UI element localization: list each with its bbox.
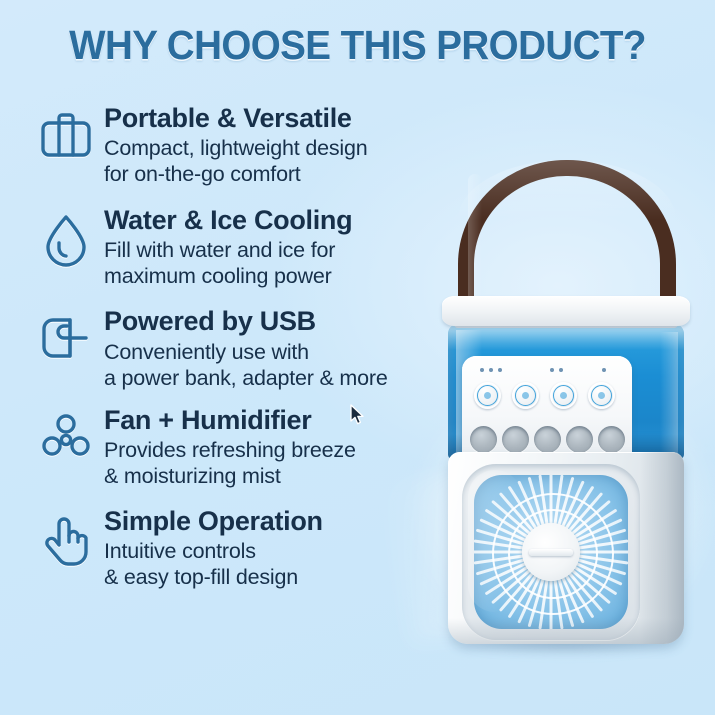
usb-plug-icon [30,306,102,362]
feature-item-portable: Portable & Versatile Compact, lightweigh… [30,103,430,188]
mist-vent [470,426,497,453]
feature-item-fan: Fan + Humidifier Provides refreshing bre… [30,405,430,490]
fan-grille [474,475,628,629]
feature-heading: Fan + Humidifier [104,405,430,435]
feature-heading: Portable & Versatile [104,103,430,133]
product-base [448,618,684,644]
fan-hub-bar [529,549,573,556]
mouse-pointer [349,404,367,428]
feature-body: Provides refreshing breeze & moisturizin… [104,437,430,489]
feature-text-usb: Powered by USB Conveniently use with a p… [102,306,430,391]
feature-text-portable: Portable & Versatile Compact, lightweigh… [102,103,430,188]
feature-item-simple-operation: Simple Operation Intuitive controls & ea… [30,506,430,591]
control-buttons [472,382,624,416]
feature-body: Fill with water and ice for maximum cool… [104,237,430,289]
feature-item-usb: Powered by USB Conveniently use with a p… [30,306,430,391]
feature-text-simple-operation: Simple Operation Intuitive controls & ea… [102,506,430,591]
mist-vent [598,426,625,453]
speed-button[interactable] [512,382,539,409]
product-image-air-cooler [420,160,710,660]
feature-item-water-cooling: Water & Ice Cooling Fill with water and … [30,205,430,290]
feature-heading: Water & Ice Cooling [104,205,430,235]
fan-recess [462,464,640,640]
feature-heading: Powered by USB [104,306,430,336]
mist-vent [502,426,529,453]
feature-text-fan: Fan + Humidifier Provides refreshing bre… [102,405,430,490]
feature-body: Conveniently use with a power bank, adap… [104,339,430,391]
light-button[interactable] [588,382,615,409]
mist-button[interactable] [550,382,577,409]
feature-body: Intuitive controls & easy top-fill desig… [104,538,430,590]
feature-body: Compact, lightweight design for on-the-g… [104,135,430,187]
power-button[interactable] [474,382,501,409]
feature-list: Portable & Versatile Compact, lightweigh… [30,103,430,606]
mist-vent [566,426,593,453]
top-fill-lid [442,296,690,326]
mist-vent [534,426,561,453]
product-body [448,452,684,644]
product-body-side [640,452,684,644]
control-panel [462,356,632,464]
briefcase-icon [30,103,102,159]
feature-heading: Simple Operation [104,506,430,536]
water-drop-icon [30,205,102,267]
pointing-hand-icon [30,506,102,568]
infographic-canvas: WHY CHOOSE THIS PRODUCT? Portable & Vers… [0,0,715,715]
feature-text-water-cooling: Water & Ice Cooling Fill with water and … [102,205,430,290]
fan-blades-icon [30,405,102,463]
indicator-dots [476,368,616,376]
page-title: WHY CHOOSE THIS PRODUCT? [21,22,693,69]
